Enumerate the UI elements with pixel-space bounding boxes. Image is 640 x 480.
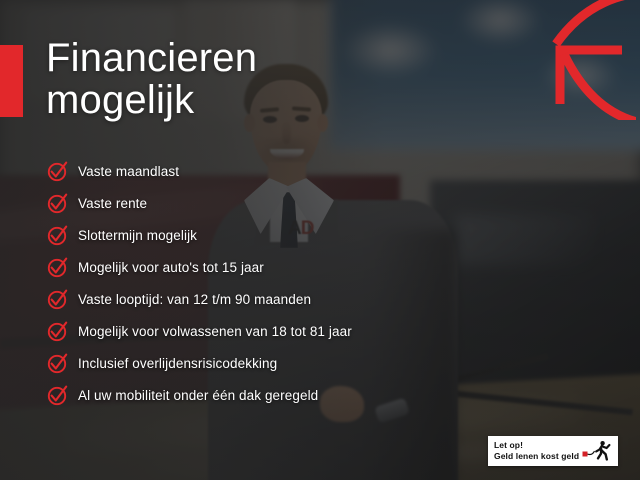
list-item-label: Mogelijk voor auto's tot 15 jaar bbox=[78, 260, 264, 275]
check-circle-icon bbox=[46, 287, 70, 311]
walking-man-ball-and-chain-icon bbox=[582, 440, 612, 462]
list-item-label: Slottermijn mogelijk bbox=[78, 228, 197, 243]
credit-warning-line2: Geld lenen kost geld bbox=[494, 451, 580, 462]
check-circle-icon bbox=[46, 383, 70, 407]
ad-arc-arrow-logo bbox=[550, 0, 636, 120]
credit-warning-line1: Let op! bbox=[494, 440, 580, 451]
list-item: Vaste rente bbox=[46, 187, 476, 219]
list-item: Slottermijn mogelijk bbox=[46, 219, 476, 251]
check-circle-icon bbox=[46, 255, 70, 279]
credit-warning-text: Let op! Geld lenen kost geld bbox=[494, 440, 580, 462]
check-circle-icon bbox=[46, 351, 70, 375]
financing-promo-banner: AD Financieren mogelijk Vaste maandlast bbox=[0, 0, 640, 480]
list-item-label: Inclusief overlijdensrisicodekking bbox=[78, 356, 277, 371]
list-item: Vaste maandlast bbox=[46, 155, 476, 187]
list-item-label: Vaste rente bbox=[78, 196, 147, 211]
check-circle-icon bbox=[46, 159, 70, 183]
list-item-label: Vaste looptijd: van 12 t/m 90 maanden bbox=[78, 292, 311, 307]
check-circle-icon bbox=[46, 223, 70, 247]
credit-warning-badge: Let op! Geld lenen kost geld bbox=[488, 436, 618, 466]
list-item: Inclusief overlijdensrisicodekking bbox=[46, 347, 476, 379]
check-circle-icon bbox=[46, 319, 70, 343]
page-title: Financieren mogelijk bbox=[46, 38, 257, 121]
check-circle-icon bbox=[46, 191, 70, 215]
list-item: Vaste looptijd: van 12 t/m 90 maanden bbox=[46, 283, 476, 315]
list-item-label: Al uw mobiliteit onder één dak geregeld bbox=[78, 388, 318, 403]
list-item: Al uw mobiliteit onder één dak geregeld bbox=[46, 379, 476, 411]
list-item-label: Mogelijk voor volwassenen van 18 tot 81 … bbox=[78, 324, 352, 339]
red-accent-block bbox=[0, 45, 23, 117]
feature-list: Vaste maandlast Vaste rente Slottermijn … bbox=[46, 155, 476, 411]
list-item: Mogelijk voor auto's tot 15 jaar bbox=[46, 251, 476, 283]
list-item-label: Vaste maandlast bbox=[78, 164, 179, 179]
list-item: Mogelijk voor volwassenen van 18 tot 81 … bbox=[46, 315, 476, 347]
